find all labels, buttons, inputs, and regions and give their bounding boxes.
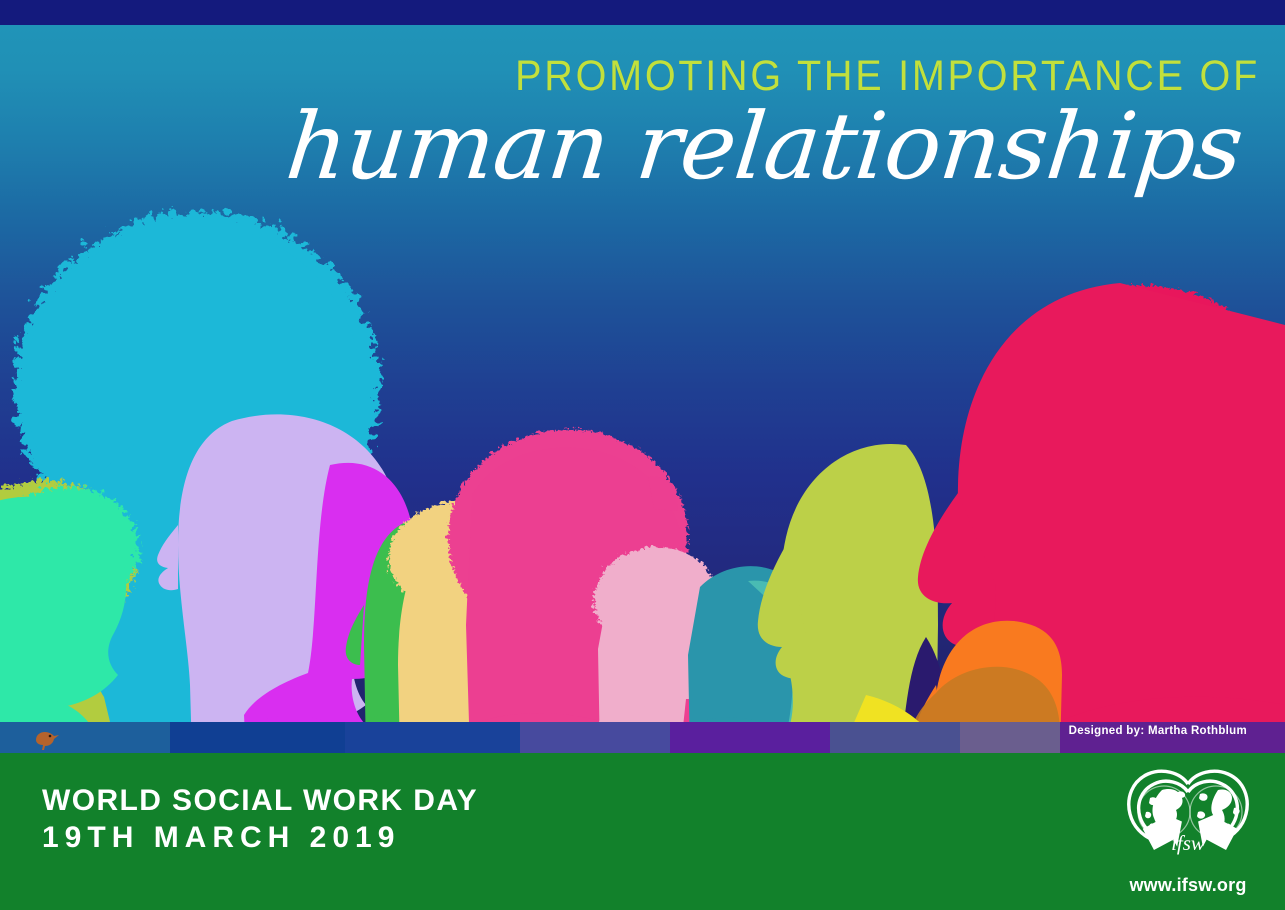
strip-segment — [345, 722, 520, 753]
green-banner: WORLD SOCIAL WORK DAY 19TH MARCH 2019 — [0, 753, 1285, 910]
headline-block: PROMOTING THE IMPORTANCE OF human relati… — [0, 55, 1260, 194]
strip-segment — [830, 722, 960, 753]
banner-text-block: WORLD SOCIAL WORK DAY 19TH MARCH 2019 — [42, 783, 478, 856]
strip-segment — [520, 722, 670, 753]
ifsw-url-label[interactable]: www.ifsw.org — [1113, 875, 1263, 896]
ifsw-logo[interactable]: ifsw www.ifsw.org — [1113, 768, 1263, 896]
ifsw-globe-mark: ifsw — [1122, 768, 1254, 872]
strip-segment — [170, 722, 345, 753]
banner-title: WORLD SOCIAL WORK DAY — [42, 783, 478, 818]
designer-credit: Designed by: Martha Rothblum — [1069, 725, 1247, 737]
strip-segment — [0, 722, 170, 753]
headline-kicker: PROMOTING THE IMPORTANCE OF — [101, 55, 1260, 98]
ifsw-mark-text: ifsw — [1171, 831, 1205, 855]
bird-silhouette-icon — [30, 728, 60, 750]
top-navy-bar — [0, 0, 1285, 25]
banner-date: 19TH MARCH 2019 — [42, 820, 478, 855]
headline-script: human relationships — [0, 100, 1265, 194]
poster-canvas: PROMOTING THE IMPORTANCE OF human relati… — [0, 0, 1285, 910]
strip-segment — [670, 722, 830, 753]
